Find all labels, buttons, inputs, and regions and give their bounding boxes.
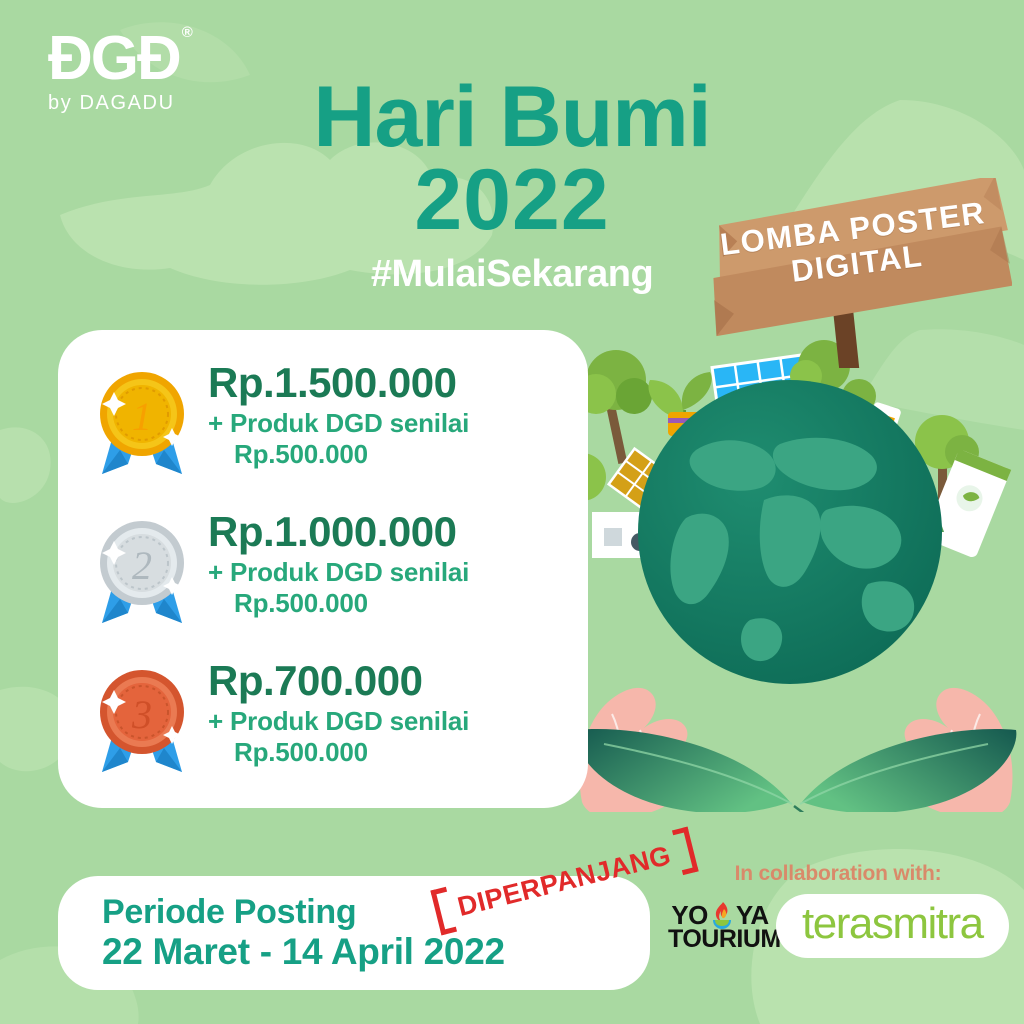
prize-bonus-line-1: + Produk DGD senilai: [208, 557, 469, 587]
page-title: Hari Bumi: [0, 78, 1024, 157]
registered-trademark-icon: ®: [182, 24, 193, 41]
svg-text:2: 2: [132, 543, 152, 588]
prize-bonus-line-1: + Produk DGD senilai: [208, 408, 469, 438]
earth-illustration: [568, 332, 1024, 812]
prize-bonus: + Produk DGD senilai Rp.500.000: [208, 557, 588, 618]
period-dates: 22 Maret - 14 April 2022: [102, 931, 650, 972]
collaboration-logos: YO YA TOURIUM terasmitra: [662, 894, 1014, 958]
prize-amount: Rp.1.500.000: [208, 362, 588, 404]
prize-bonus-line-2: Rp.500.000: [208, 737, 588, 768]
prize-row: 1 Rp.1.500.000 + Produk DGD senilai Rp.5…: [84, 362, 588, 489]
earth-illustration-graphic: [568, 332, 1024, 812]
prize-row: 2 Rp.1.000.000 + Produk DGD senilai Rp.5…: [84, 511, 588, 638]
svg-text:1: 1: [132, 394, 152, 439]
yogya-tourium-logo: YO YA TOURIUM: [668, 900, 772, 952]
prize-text: Rp.700.000 + Produk DGD senilai Rp.500.0…: [200, 660, 588, 767]
prize-card: 1 Rp.1.500.000 + Produk DGD senilai Rp.5…: [58, 330, 588, 808]
prize-bonus-line-2: Rp.500.000: [208, 588, 588, 619]
prize-bonus-line-2: Rp.500.000: [208, 439, 588, 470]
wooden-sign: LOMBA POSTER DIGITAL: [712, 178, 1012, 368]
earth-globe-icon: [638, 380, 942, 684]
terasmitra-text: terasmitra: [802, 902, 983, 946]
prize-text: Rp.1.500.000 + Produk DGD senilai Rp.500…: [200, 362, 588, 469]
collaboration-block: In collaboration with: YO YA TOURIUM ter…: [662, 862, 1014, 958]
prize-row: 3 Rp.700.000 + Produk DGD senilai Rp.500…: [84, 660, 588, 787]
terasmitra-logo: terasmitra: [776, 894, 1009, 958]
gold-medal-icon: 1: [84, 366, 200, 489]
poster-canvas: ĐGĐ® by DAGADU Hari Bumi 2022 #MulaiSeka…: [0, 0, 1024, 1024]
prize-amount: Rp.700.000: [208, 660, 588, 702]
prize-bonus: + Produk DGD senilai Rp.500.000: [208, 706, 588, 767]
silver-medal-icon: 2: [84, 515, 200, 638]
yogya-text-left: YO: [671, 903, 708, 928]
prize-bonus-line-1: + Produk DGD senilai: [208, 706, 469, 736]
prize-bonus: + Produk DGD senilai Rp.500.000: [208, 408, 588, 469]
svg-text:3: 3: [131, 692, 152, 737]
yogya-text-right: YA: [736, 903, 769, 928]
prize-amount: Rp.1.000.000: [208, 511, 588, 553]
collaboration-label: In collaboration with:: [662, 862, 1014, 886]
yogya-logo-bottom: TOURIUM: [668, 928, 772, 952]
prize-text: Rp.1.000.000 + Produk DGD senilai Rp.500…: [200, 511, 588, 618]
bronze-medal-icon: 3: [84, 664, 200, 787]
